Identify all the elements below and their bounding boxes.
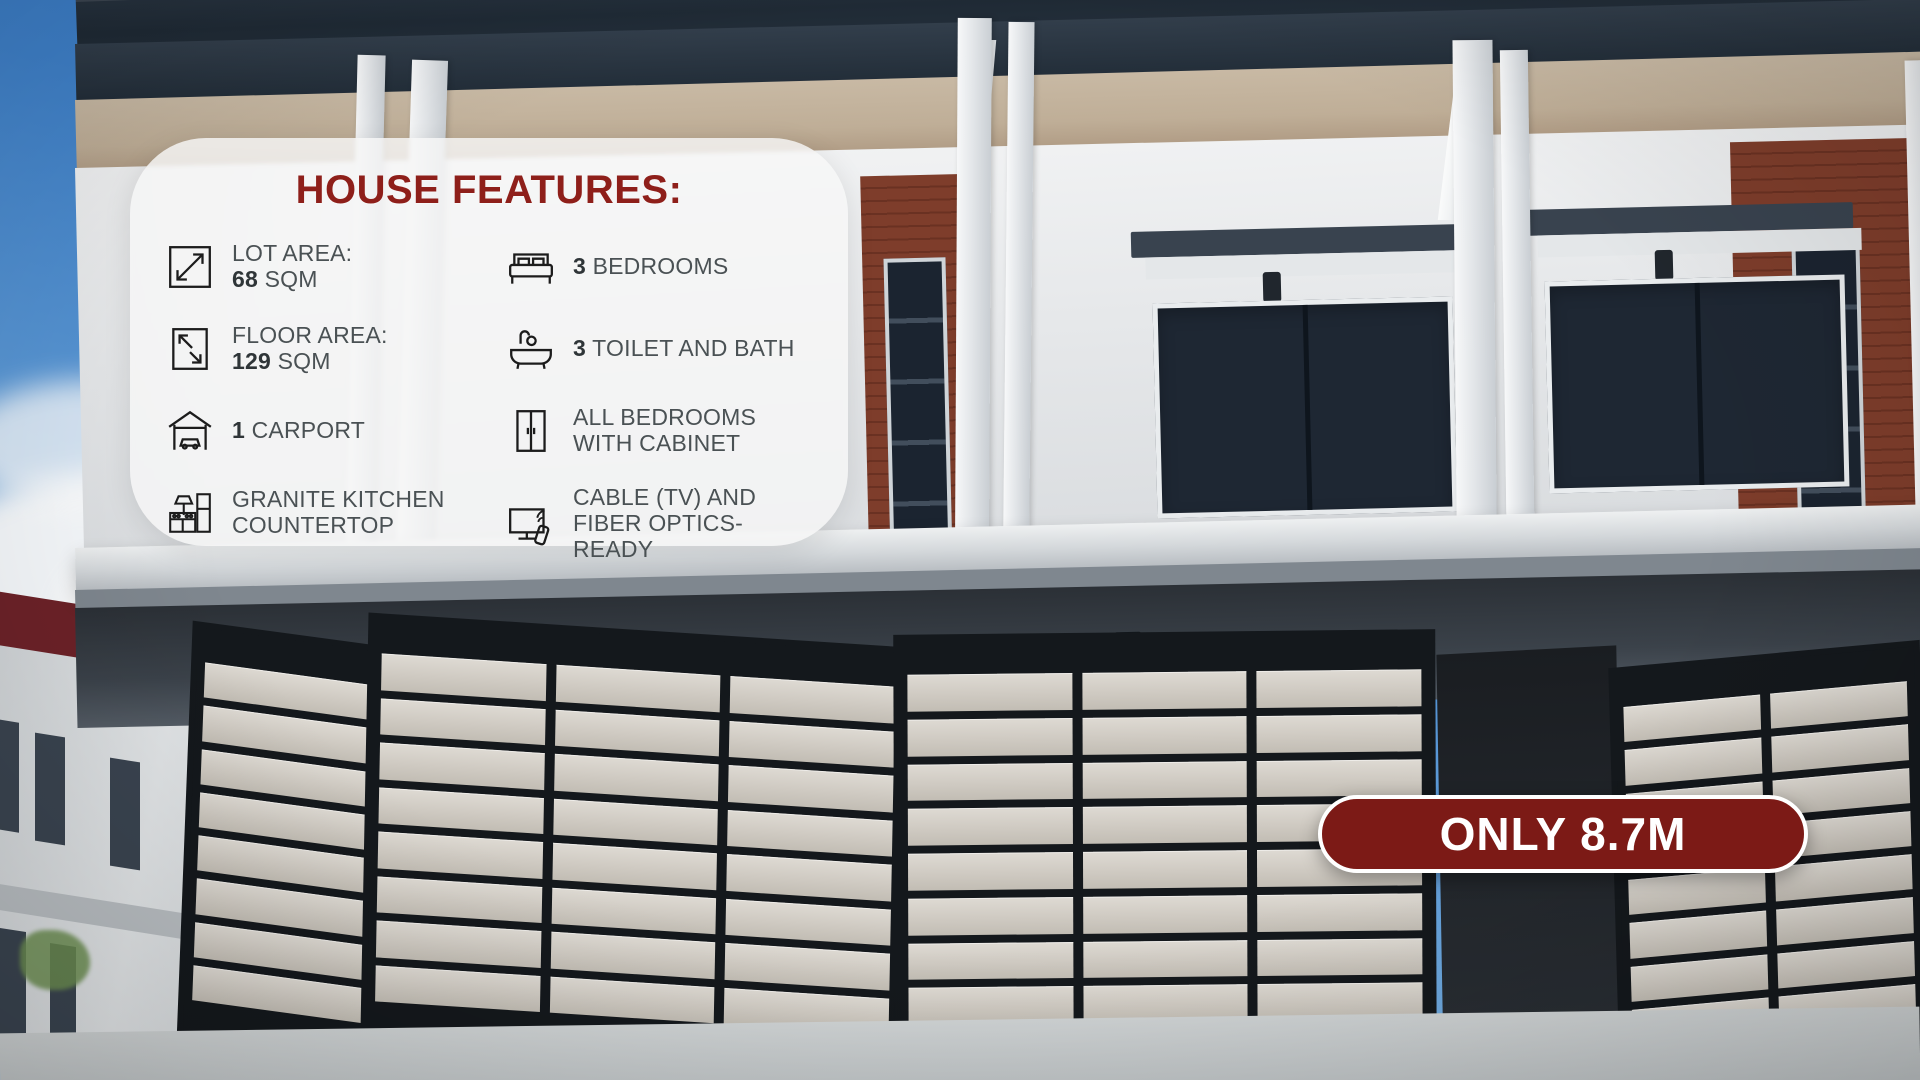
bedrooms-value: 3 [573,253,586,279]
gate-slat [554,754,719,801]
gate-slat [378,831,543,878]
bathtub-icon [505,323,557,375]
gate-slat [1082,716,1247,754]
carport-gate [366,619,904,1080]
gate-slat [908,762,1073,800]
feature-cable-fiber-text: CABLE (TV) AND FIBER OPTICS-READY [573,485,814,562]
feature-kitchen: GRANITE KITCHEN COUNTERTOP [164,485,473,541]
gate-slat [380,698,545,745]
promo-image-stage: HOUSE FEATURES: LOT AREA: [0,0,1920,1080]
features-right-column: 3 BEDROOMS 3 TOILET AND [495,239,814,562]
feature-lot-area: LOT AREA: 68 SQM [164,239,473,295]
carport-label: CARPORT [245,417,365,443]
upper-window [1153,296,1458,518]
gate-slat [1629,911,1767,959]
gate-slat [728,765,893,812]
carport-value: 1 [232,417,245,443]
price-badge[interactable]: ONLY 8.7M [1318,795,1808,873]
wall-lamp [1263,272,1282,302]
gate-slat [1083,940,1248,978]
kitchen-icon [164,487,216,539]
gate-slat [379,742,544,789]
gate-slat [375,965,540,1012]
gate-slat [378,787,543,834]
gate-slat [381,653,546,700]
gate-slat [1776,897,1914,945]
upper-window [1545,274,1850,493]
gate-slat [1625,738,1763,786]
gate-bay [1082,645,1248,1063]
feature-floor-area-text: FLOOR AREA: 129 SQM [232,323,388,375]
feature-bedrooms: 3 BEDROOMS [505,239,814,295]
gate-slat [551,887,716,934]
tv-remote-icon [505,498,557,550]
feature-bedrooms-text: 3 BEDROOMS [573,254,728,280]
gate-slat [1257,669,1422,707]
gate-slat [1257,893,1422,931]
gate-slat [730,676,895,723]
expand-diagonal-icon [164,241,216,293]
price-badge-text: ONLY 8.7M [1440,807,1687,861]
gate-slat [1770,681,1908,729]
gate-slat [908,897,1073,935]
lot-area-label: LOT AREA: [232,240,352,266]
gate-slat [1631,954,1769,1002]
feature-cabinet: ALL BEDROOMS WITH CABINET [505,403,814,459]
bath-label: TOILET AND BATH [586,335,795,361]
house-features-card: HOUSE FEATURES: LOT AREA: [130,138,848,546]
gate-slat [550,976,715,1023]
gate-slat [376,920,541,967]
gate-slat [908,718,1073,756]
gate-bay [907,647,1073,1065]
floor-area-icon [164,323,216,375]
wall-lamp [1655,250,1674,280]
wardrobe-icon [505,405,557,457]
gate-slat [727,809,892,856]
feature-floor-area: FLOOR AREA: 129 SQM [164,321,473,377]
features-left-column: LOT AREA: 68 SQM [164,239,473,562]
feature-toilet-and-bath-text: 3 TOILET AND BATH [573,336,795,362]
gate-bay [549,639,721,1064]
gate-slat [1082,671,1247,709]
gate-slat [726,898,891,945]
gate-slat [552,843,717,890]
gate-slat [1083,805,1248,843]
gate-slat [555,709,720,756]
gate-slat [553,798,718,845]
gate-slat [1083,895,1248,933]
feature-cable-fiber: CABLE (TV) AND FIBER OPTICS-READY [505,485,814,562]
gate-slat [727,854,892,901]
feature-lot-area-text: LOT AREA: 68 SQM [232,241,352,293]
feature-carport: 1 CARPORT [164,403,473,459]
gate-slat [550,932,715,979]
floor-area-value: 129 [232,348,271,374]
gate-slat [1257,759,1422,797]
floor-area-label: FLOOR AREA: [232,322,388,348]
floor-area-unit: SQM [271,348,331,374]
bedrooms-label: BEDROOMS [586,253,728,279]
gate-slat [377,876,542,923]
carport-gate [182,627,387,1072]
lot-area-unit: SQM [258,266,318,292]
neighbour-window [0,717,19,832]
bed-icon [505,241,557,293]
feature-cabinet-text: ALL BEDROOMS WITH CABINET [573,405,814,457]
gate-slat [1628,867,1766,915]
gate-bay [723,650,895,1075]
gate-slat [1257,714,1422,752]
gate-slat [908,807,1073,845]
features-card-title: HOUSE FEATURES: [164,168,814,213]
feature-toilet-and-bath: 3 TOILET AND BATH [505,321,814,377]
carport-icon [164,405,216,457]
gate-slat [1771,724,1909,772]
gate-slat [908,852,1073,890]
feature-kitchen-text: GRANITE KITCHEN COUNTERTOP [232,487,473,539]
gate-slat [729,720,894,767]
gate-slat [1258,938,1423,976]
gate-bay [374,627,546,1052]
narrow-window [883,257,952,558]
gate-slat [1082,761,1247,799]
gate-slat [1623,695,1761,743]
gate-bay [191,636,380,1063]
bath-value: 3 [573,335,586,361]
lot-area-value: 68 [232,266,258,292]
gate-slat [1083,850,1248,888]
gate-slat [907,673,1072,711]
gate-slat [725,943,890,990]
gate-slat [908,941,1073,979]
gate-slat [556,665,721,712]
gate-slat [1777,941,1915,989]
feature-carport-text: 1 CARPORT [232,418,365,444]
neighbour-window [35,733,65,846]
